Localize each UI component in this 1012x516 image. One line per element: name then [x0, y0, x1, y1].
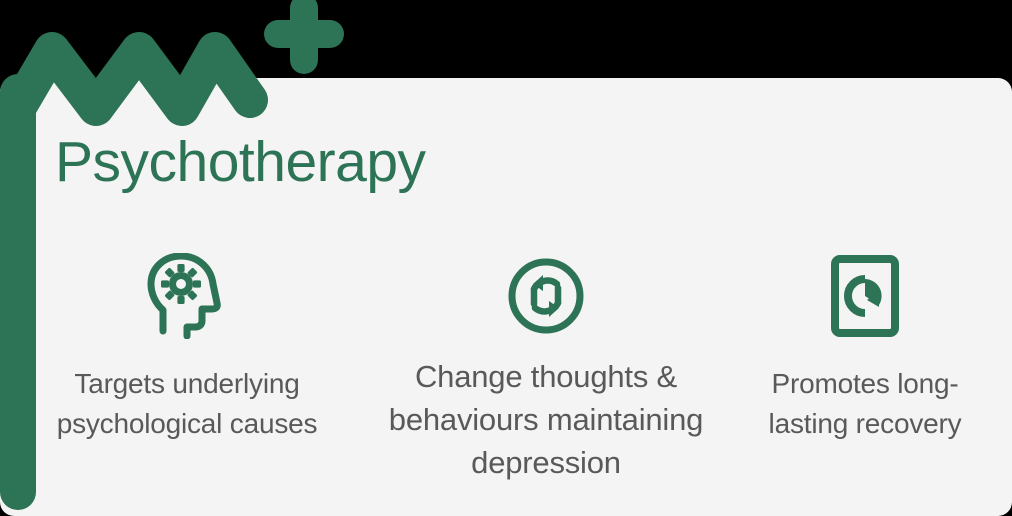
feature-row: Targets underlying psychological causes	[22, 240, 990, 490]
feature-caption: Promotes long-lasting recovery	[745, 364, 985, 444]
head-with-gear-icon	[145, 250, 229, 342]
feature-item: Promotes long-lasting recovery	[740, 240, 990, 444]
framed-restore-arrow-icon	[831, 250, 899, 342]
feature-caption: Targets underlying psychological causes	[27, 364, 347, 444]
feature-item: Change thoughts & behaviours maintaining…	[371, 240, 721, 484]
feature-item: Targets underlying psychological causes	[22, 240, 352, 444]
circular-arrows-change-icon	[507, 250, 585, 342]
feature-caption: Change thoughts & behaviours maintaining…	[372, 356, 720, 484]
plus-cross-mark	[278, 8, 330, 60]
slide-canvas: Psychotherapy	[0, 0, 1012, 516]
page-title: Psychotherapy	[55, 133, 426, 193]
